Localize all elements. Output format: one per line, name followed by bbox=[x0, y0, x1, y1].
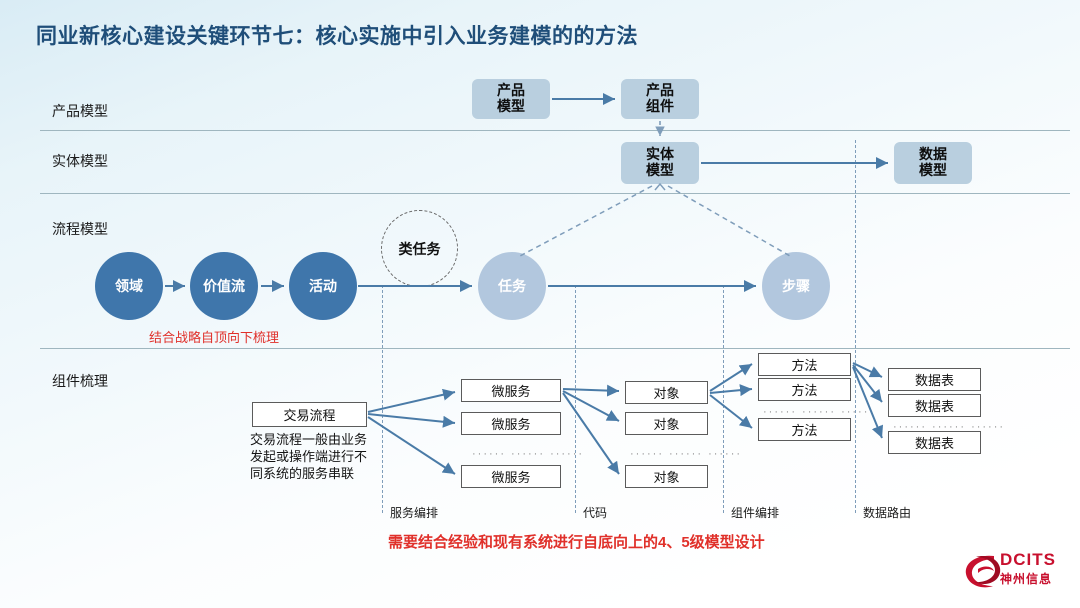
arrow-ms-to-obj3 bbox=[563, 393, 619, 474]
row-label-process: 流程模型 bbox=[52, 219, 108, 239]
column-caption-component-orchestration: 组件编排 bbox=[731, 504, 779, 521]
box-method-1[interactable]: 方法 bbox=[758, 353, 851, 376]
dashed-entity-to-task bbox=[520, 186, 652, 256]
box-datatable-3[interactable]: 数据表 bbox=[888, 431, 981, 454]
box-microservice-1-label: 微服务 bbox=[491, 381, 530, 400]
column-separator-4 bbox=[855, 140, 856, 513]
box-method-1-label: 方法 bbox=[791, 355, 817, 374]
divider-product-entity bbox=[40, 130, 1070, 131]
box-data-model-line1: 数据 bbox=[919, 147, 947, 163]
box-object-1-label: 对象 bbox=[653, 383, 679, 402]
box-object-3[interactable]: 对象 bbox=[625, 465, 708, 488]
box-object-2[interactable]: 对象 bbox=[625, 412, 708, 435]
box-transaction-flow[interactable]: 交易流程 bbox=[252, 402, 367, 427]
box-datatable-1[interactable]: 数据表 bbox=[888, 368, 981, 391]
arrow-obj-to-m1 bbox=[710, 364, 752, 391]
slide-canvas: 同业新核心建设关键环节七：核心实施中引入业务建模的的方法 产品模型 实体模型 流… bbox=[0, 0, 1080, 608]
row-label-component: 组件梳理 bbox=[52, 371, 108, 391]
box-object-3-label: 对象 bbox=[653, 467, 679, 486]
box-method-3-label: 方法 bbox=[791, 420, 817, 439]
arrow-ms-to-obj1 bbox=[563, 389, 619, 391]
column-caption-service-orchestration: 服务编排 bbox=[390, 504, 438, 521]
box-microservice-3-label: 微服务 bbox=[491, 467, 530, 486]
box-microservice-1[interactable]: 微服务 bbox=[461, 379, 561, 402]
circle-activity-label: 活动 bbox=[309, 276, 337, 296]
object-ellipsis: ······ ······ ······ bbox=[630, 448, 742, 460]
box-transaction-flow-label: 交易流程 bbox=[283, 405, 335, 424]
box-datatable-1-label: 数据表 bbox=[915, 370, 954, 389]
divider-process-component bbox=[40, 348, 1070, 349]
arrow-ms-to-obj2 bbox=[563, 391, 619, 421]
box-method-2-label: 方法 bbox=[791, 380, 817, 399]
arrow-m-to-dt3 bbox=[853, 367, 882, 438]
arrow-obj-to-m2 bbox=[710, 389, 752, 393]
arrow-obj-to-m3 bbox=[710, 395, 752, 428]
transaction-flow-caption: 交易流程一般由业务发起或操作端进行不同系统的服务串联 bbox=[250, 432, 370, 483]
box-microservice-3[interactable]: 微服务 bbox=[461, 465, 561, 488]
arrow-m-to-dt2 bbox=[853, 365, 882, 402]
page-title: 同业新核心建设关键环节七：核心实施中引入业务建模的的方法 bbox=[36, 20, 638, 50]
box-datatable-2-label: 数据表 bbox=[915, 396, 954, 415]
circle-value-stream-label: 价值流 bbox=[203, 276, 245, 296]
circle-activity[interactable]: 活动 bbox=[289, 252, 357, 320]
box-datatable-2[interactable]: 数据表 bbox=[888, 394, 981, 417]
dashed-arrow-head-entity bbox=[655, 184, 665, 190]
column-separator-1 bbox=[382, 285, 383, 513]
circle-step-label: 步骤 bbox=[782, 276, 810, 296]
circle-task-label: 任务 bbox=[498, 276, 526, 296]
box-method-2[interactable]: 方法 bbox=[758, 378, 851, 401]
circle-value-stream[interactable]: 价值流 bbox=[190, 252, 258, 320]
logo-en-text: DCITS bbox=[1000, 550, 1056, 570]
dashed-entity-to-step bbox=[668, 186, 790, 256]
box-microservice-2[interactable]: 微服务 bbox=[461, 412, 561, 435]
box-product-component[interactable]: 产品 组件 bbox=[621, 79, 699, 119]
box-data-model-line2: 模型 bbox=[919, 163, 947, 179]
row-label-entity: 实体模型 bbox=[52, 151, 108, 171]
box-entity-model[interactable]: 实体 模型 bbox=[621, 142, 699, 184]
box-method-3[interactable]: 方法 bbox=[758, 418, 851, 441]
box-datatable-3-label: 数据表 bbox=[915, 433, 954, 452]
box-entity-model-line2: 模型 bbox=[646, 163, 674, 179]
component-annotation: 需要结合经验和现有系统进行自底向上的4、5级模型设计 bbox=[388, 531, 765, 552]
box-product-model[interactable]: 产品 模型 bbox=[472, 79, 550, 119]
divider-entity-process bbox=[40, 193, 1070, 194]
logo-text-group: DCITS 神州信息 bbox=[1000, 550, 1056, 587]
circle-domain-label: 领域 bbox=[115, 276, 143, 296]
box-product-model-line1: 产品 bbox=[497, 83, 525, 99]
method-ellipsis: ······ ······ ······ bbox=[763, 406, 875, 418]
microservice-ellipsis: ······ ······ ······ bbox=[472, 448, 584, 460]
box-product-component-line1: 产品 bbox=[646, 83, 674, 99]
logo-cn-text: 神州信息 bbox=[1000, 570, 1056, 587]
arrow-m-to-dt1 bbox=[853, 363, 882, 377]
box-microservice-2-label: 微服务 bbox=[491, 414, 530, 433]
box-data-model[interactable]: 数据 模型 bbox=[894, 142, 972, 184]
circle-task[interactable]: 任务 bbox=[478, 252, 546, 320]
process-annotation: 结合战略自顶向下梳理 bbox=[149, 327, 279, 346]
column-separator-3 bbox=[723, 285, 724, 513]
circle-task-class[interactable]: 类任务 bbox=[381, 210, 458, 287]
circle-task-class-label: 类任务 bbox=[399, 239, 441, 259]
row-label-product: 产品模型 bbox=[52, 101, 108, 121]
box-object-2-label: 对象 bbox=[653, 414, 679, 433]
column-separator-2 bbox=[575, 285, 576, 513]
circle-step[interactable]: 步骤 bbox=[762, 252, 830, 320]
circle-domain[interactable]: 领域 bbox=[95, 252, 163, 320]
box-object-1[interactable]: 对象 bbox=[625, 381, 708, 404]
column-caption-code: 代码 bbox=[583, 504, 607, 521]
box-entity-model-line1: 实体 bbox=[646, 147, 674, 163]
box-product-component-line2: 组件 bbox=[646, 99, 674, 115]
column-caption-data-routing: 数据路由 bbox=[863, 504, 911, 521]
box-product-model-line2: 模型 bbox=[497, 99, 525, 115]
